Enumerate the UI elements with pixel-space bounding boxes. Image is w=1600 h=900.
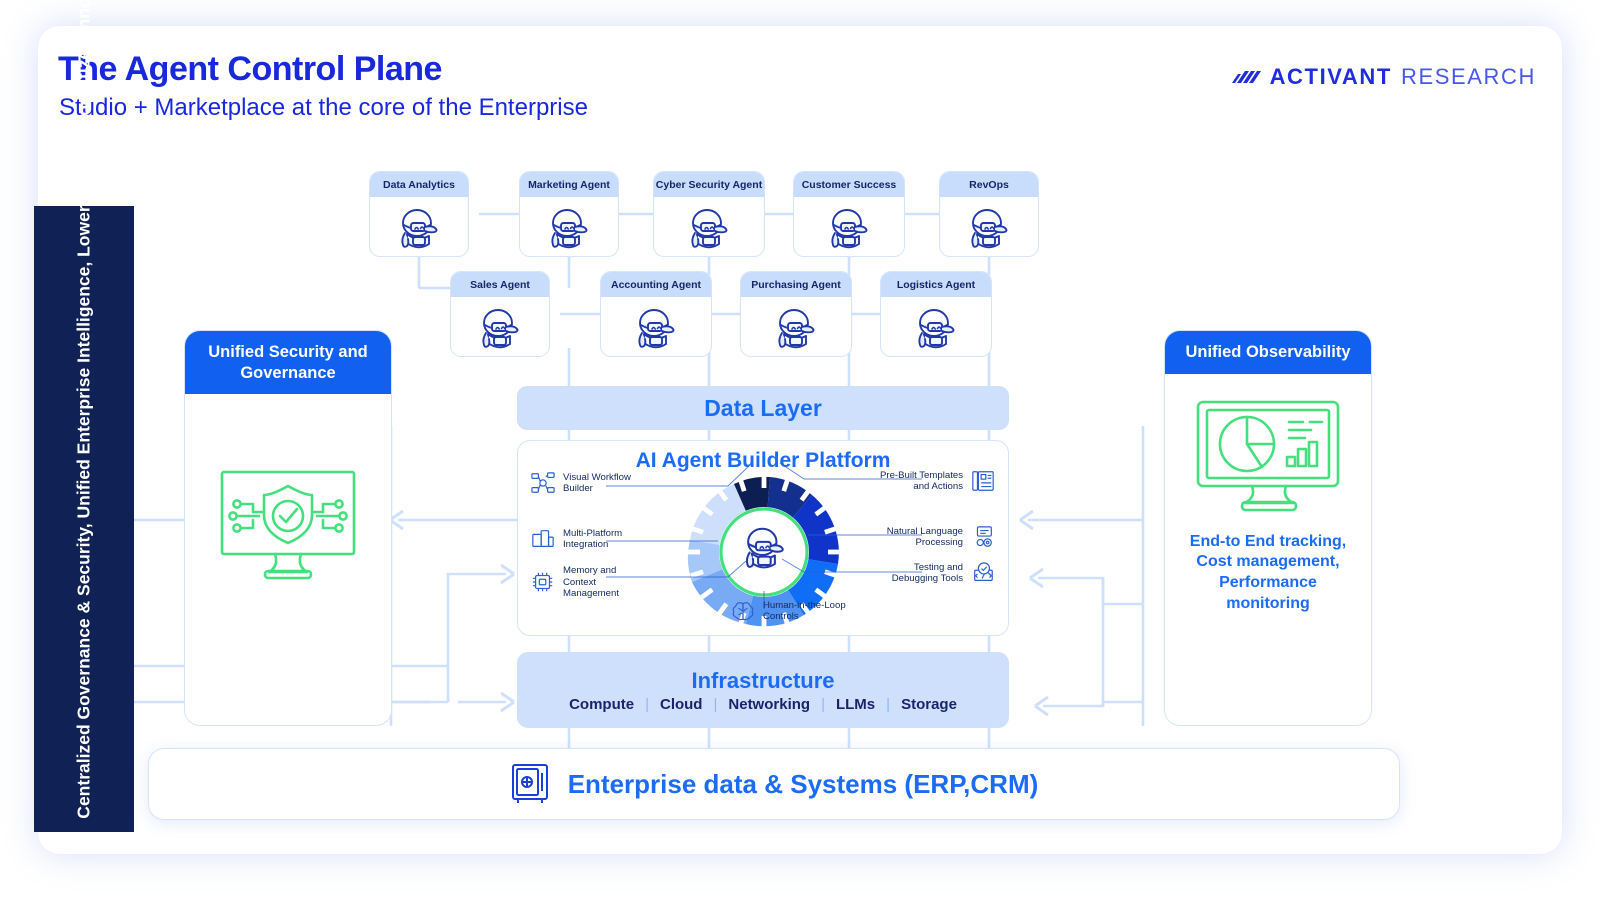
page-title: The Agent Control Plane [58,50,442,89]
page-subtitle: Studio + Marketplace at the core of the … [59,94,588,122]
data-layer-label: Data Layer [704,395,822,422]
ai-agent-builder-platform: AI Agent Builder Platform [517,440,1009,636]
agent-card-body [451,297,549,357]
agent-card-label: Purchasing Agent [751,279,840,291]
workflow-icon [530,471,556,495]
robot-icon [961,203,1017,255]
robot-icon [681,203,737,255]
agent-card-header: Cyber Security Agent [654,172,764,197]
agent-card-label: Accounting Agent [611,279,701,291]
feature-testing-and-debugging-tools: Testing and Debugging Tools [876,561,996,585]
enterprise-label: Enterprise data & Systems (ERP,CRM) [568,769,1039,800]
agent-card-data-analytics[interactable]: Data Analytics [369,171,469,257]
panel-unified-security-and-governance[interactable]: Unified Security and Governance [184,330,392,726]
infrastructure-item-networking: Networking [728,696,810,713]
separator: | [886,696,890,713]
infrastructure-band[interactable]: Infrastructure Compute | Cloud | Network… [517,652,1009,728]
feature-label: Natural Language Processing [876,526,963,549]
feature-memory-context-management: Memory and Context Management [530,565,650,600]
infrastructure-items: Compute | Cloud | Networking | LLMs | St… [569,696,957,713]
agent-card-label: Customer Success [802,179,897,191]
panel-body: End-to End tracking, Cost management, Pe… [1165,374,1371,615]
robot-icon [768,303,824,355]
agent-card-body [520,197,618,257]
agent-card-body [741,297,851,357]
feature-label: Multi-Platform Integration [563,528,650,551]
panel-header: Unified Security and Governance [185,331,391,394]
robot-icon [908,303,964,355]
agent-card-customer-success[interactable]: Customer Success [793,171,905,257]
robot-icon [391,203,447,255]
panel-body [185,394,391,586]
agent-card-header: Sales Agent [451,272,549,297]
agent-card-header: Logistics Agent [881,272,991,297]
multi-platform-icon [530,527,556,551]
vault-safe-icon [510,762,550,806]
debug-magnifier-icon [970,561,996,585]
agent-card-body [940,197,1038,257]
brain-icon [730,599,756,623]
panel-caption: End-to End tracking, Cost management, Pe… [1165,532,1371,615]
robot-icon [628,303,684,355]
memory-chip-icon [530,570,556,594]
feature-label: Human-in-the-Loop Controls [763,600,860,623]
feature-visual-workflow-builder: Visual Workflow Builder [530,471,650,495]
agent-card-body [370,197,468,257]
infrastructure-item-storage: Storage [901,696,957,713]
infrastructure-item-llms: LLMs [836,696,875,713]
agent-card-body [881,297,991,357]
nlp-text-gear-icon [970,525,996,549]
panel-title: Unified Security and Governance [191,342,385,383]
infrastructure-item-compute: Compute [569,696,634,713]
infrastructure-item-cloud: Cloud [660,696,703,713]
robot-icon [821,203,877,255]
value-prop-sidebar: Centralized Governance & Security, Unifi… [34,206,134,832]
feature-label: Visual Workflow Builder [563,472,650,495]
panel-unified-observability[interactable]: Unified Observability End-to End trackin… [1164,330,1372,726]
feature-label: Testing and Debugging Tools [876,562,963,585]
agent-card-label: RevOps [969,179,1009,191]
agent-card-header: Accounting Agent [601,272,711,297]
agent-card-header: Purchasing Agent [741,272,851,297]
agent-card-label: Logistics Agent [897,279,975,291]
shield-monitor-icon [213,466,363,586]
templates-icon [970,469,996,493]
agent-card-body [654,197,764,257]
analytics-monitor-icon [1192,396,1344,518]
panel-title: Unified Observability [1185,342,1350,363]
agent-card-cyber-security-agent[interactable]: Cyber Security Agent [653,171,765,257]
agent-card-body [601,297,711,357]
agent-card-label: Data Analytics [383,179,455,191]
separator: | [713,696,717,713]
panel-header: Unified Observability [1165,331,1371,374]
separator: | [821,696,825,713]
data-layer-band[interactable]: Data Layer [517,386,1009,430]
agent-card-label: Cyber Security Agent [656,179,762,191]
feature-human-in-the-loop-controls: Human-in-the-Loop Controls [730,599,860,623]
feature-natural-language-processing: Natural Language Processing [876,525,996,549]
agent-card-purchasing-agent[interactable]: Purchasing Agent [740,271,852,357]
logo-brand-suffix: RESEARCH [1401,64,1536,90]
sidebar-label: Centralized Governance & Security, Unifi… [71,219,96,819]
agent-card-marketing-agent[interactable]: Marketing Agent [519,171,619,257]
agent-card-revops[interactable]: RevOps [939,171,1039,257]
feature-label: Pre-Built Templates and Actions [876,470,963,493]
enterprise-data-systems-bar[interactable]: Enterprise data & Systems (ERP,CRM) [148,748,1400,820]
activant-stripes-icon [1231,65,1261,89]
separator: | [645,696,649,713]
robot-icon [541,203,597,255]
agent-card-accounting-agent[interactable]: Accounting Agent [600,271,712,357]
diagram-canvas: The Agent Control Plane Studio + Marketp… [38,26,1562,854]
agent-card-body [794,197,904,257]
feature-label: Memory and Context Management [563,565,650,600]
logo-brand-name: ACTIVANT [1270,64,1392,90]
feature-multi-platform-integration: Multi-Platform Integration [530,527,650,551]
brand-logo: ACTIVANT RESEARCH [1231,64,1536,90]
agent-card-header: Customer Success [794,172,904,197]
agent-card-label: Marketing Agent [528,179,610,191]
feature-pre-built-templates-and-actions: Pre-Built Templates and Actions [876,469,996,493]
agent-card-header: RevOps [940,172,1038,197]
agent-card-sales-agent[interactable]: Sales Agent [450,271,550,357]
robot-icon [472,303,528,355]
agent-card-header: Data Analytics [370,172,468,197]
infrastructure-title: Infrastructure [691,668,834,694]
agent-card-header: Marketing Agent [520,172,618,197]
agent-card-logistics-agent[interactable]: Logistics Agent [880,271,992,357]
agent-card-label: Sales Agent [470,279,530,291]
